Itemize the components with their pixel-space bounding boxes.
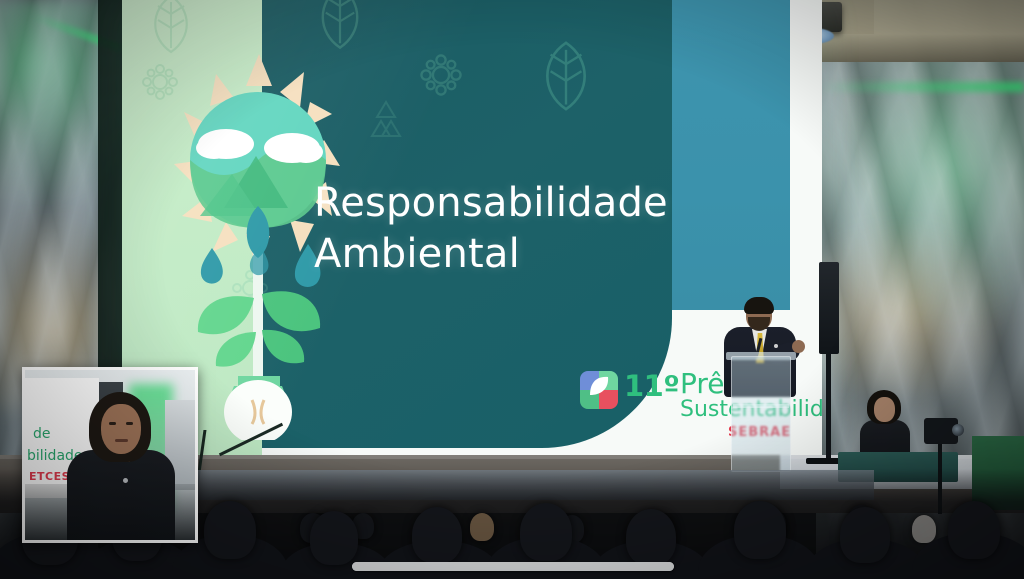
pip-interpreter-eye-left (109, 422, 116, 425)
podium-shelf (733, 404, 789, 408)
audience-head (520, 503, 572, 561)
slide-title: Responsabilidade Ambiental (314, 178, 668, 280)
interpreter-face (874, 397, 895, 422)
video-progress-bar[interactable] (352, 562, 674, 571)
pip-interpreter-lapel-pin (123, 478, 128, 483)
audience-head (412, 507, 462, 563)
pa-speaker-pole (826, 352, 831, 462)
progress-track[interactable] (352, 562, 674, 571)
audience-head (734, 501, 786, 559)
audience-head (840, 507, 890, 563)
speaker-lapel-pin (774, 344, 778, 348)
acrylic-podium (731, 356, 791, 472)
audience-head (912, 515, 936, 543)
video-frame: Responsabilidade Ambiental 11º Prêmio Su… (0, 0, 1024, 579)
pip-interpreter-eye-right (126, 422, 133, 425)
amber-uplight-right (816, 215, 1014, 395)
progress-fill (352, 562, 674, 571)
pip-interpreter-person (67, 392, 177, 543)
audience-head (310, 511, 358, 565)
green-light-strip-right (818, 82, 1024, 92)
audience-head (948, 501, 1000, 559)
slide-band-blue (672, 0, 790, 310)
pip-interpreter-body (67, 450, 175, 543)
camera-lens (952, 424, 964, 436)
audience-head (204, 501, 256, 559)
speaker-hair (744, 297, 774, 314)
pip-banner-line-1: de (33, 426, 51, 442)
award-edition-number: 11º (624, 369, 679, 403)
ceiling-beam (820, 0, 1024, 62)
logo-leaf-icon (587, 374, 611, 398)
sign-language-interpreter-inset[interactable]: de bilidade ETCESA (22, 367, 198, 543)
audience-head (470, 513, 494, 541)
pip-interpreter-mouth (115, 439, 128, 442)
audience-head (626, 509, 676, 565)
pa-speaker-on-stand (819, 262, 839, 354)
pip-interpreter-face (101, 404, 141, 454)
